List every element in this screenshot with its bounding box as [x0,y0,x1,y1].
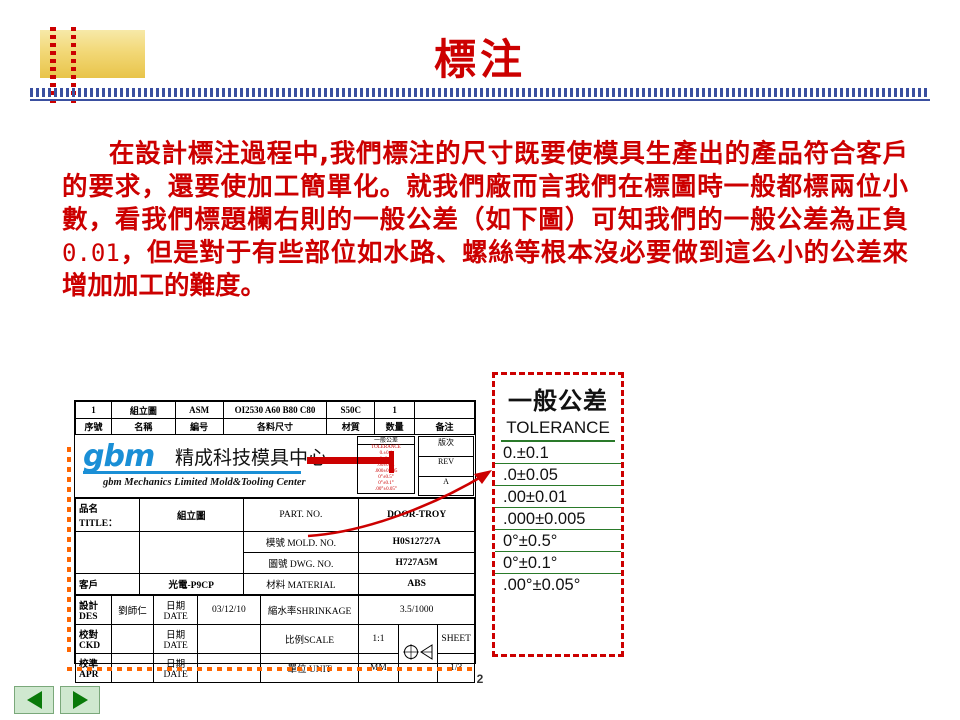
triangle-right-icon [73,691,88,709]
company-name-en: gbm Mechanics Limited Mold&Tooling Cente… [103,477,306,488]
cell-title-label: 品名 TITLE： [76,499,140,532]
cell-ckd-date-label: 日期DATE [154,625,197,654]
first-angle-projection-icon [402,642,434,662]
revision-label-cn: 版次 [418,436,474,456]
cell-hdr-qty: 数量 [375,419,415,435]
cell-ckd-label: 校對CKD [76,625,112,654]
cell-dwgno-label: 圖號 DWG. NO. [243,553,359,574]
paragraph-text-part2: ，但是對于有些部位如水路、螺絲等根本沒必要做到這么小的公差來增加加工的難度。 [62,238,908,301]
cell-item-material: S50C [327,402,375,419]
body-paragraph: 在設計標注過程中,我們標注的尺寸既要使模具生產出的產品符合客戶的要求，還要使加工… [62,138,908,303]
cell-blank-left [76,532,140,574]
cell-shrinkage-value: 3.5/1000 [359,596,475,625]
header-solid-rule [30,99,930,101]
cell-hdr-name: 名稱 [111,419,175,435]
table-row: 客戶 光電-P9CP 材料 MATERIAL ABS [76,574,475,595]
cell-des-label: 設計DES [76,596,112,625]
cell-item-size: OI2530 A60 B80 C80 [223,402,327,419]
cell-material-value: ABS [359,574,475,595]
drawing-header-table: 1 組立圖 ASM OI2530 A60 B80 C80 S50C 1 序號 名… [75,401,475,435]
cell-hdr-code: 編号 [175,419,223,435]
table-row: 序號 名稱 編号 各料尺寸 材質 数量 备注 [76,419,475,435]
cell-item-remark [415,402,475,419]
triangle-left-icon [27,691,42,709]
list-item: .000±0.005 [495,508,621,530]
next-slide-button[interactable] [60,686,100,714]
tolerance-callout-list: 0.±0.1 .0±0.05 .00±0.01 .000±0.005 0°±0.… [495,442,621,596]
cell-customer-label: 客戶 [76,574,140,595]
cell-item-no: 1 [76,402,112,419]
cell-des-date-value: 03/12/10 [197,596,260,625]
header-dotted-rule [30,88,930,97]
prev-slide-button[interactable] [14,686,54,714]
table-row: 設計DES 劉師仁 日期DATE 03/12/10 縮水率SHRINKAGE 3… [76,596,475,625]
list-item: .00±0.01 [495,486,621,508]
cell-hdr-size: 各料尺寸 [223,419,327,435]
list-item: 0°±0.5° [495,530,621,552]
callout-arrow [300,462,510,542]
cell-des-value: 劉師仁 [111,596,154,625]
cell-dwgno-value: H727A5M [359,553,475,574]
paragraph-text-part1: 在設計標注過程中,我們標注的尺寸既要使模具生產出的產品符合客戶的要求，還要使加工… [62,139,908,235]
company-logo-text: gbm [83,439,154,474]
list-item: .0±0.05 [495,464,621,486]
slide-navigation[interactable] [14,686,100,714]
tolerance-callout-subtitle: TOLERANCE [501,418,615,442]
list-item: 0°±0.1° [495,552,621,574]
cell-hdr-material: 材質 [327,419,375,435]
cell-scale-value: 1:1 [359,625,398,654]
cell-ckd-date-value [197,625,260,654]
paragraph-tolerance-value: 0.01 [62,239,120,267]
cell-hdr-remark: 备注 [415,419,475,435]
table-row: 1 組立圖 ASM OI2530 A60 B80 C80 S50C 1 [76,402,475,419]
cell-hdr-no: 序號 [76,419,112,435]
cell-item-qty: 1 [375,402,415,419]
tolerance-callout-title: 一般公差 [495,381,621,416]
cell-customer-value: 光電-P9CP [139,574,243,595]
list-item: .00°±0.05° [495,574,621,596]
cell-material-label: 材料 MATERIAL [243,574,359,595]
cell-des-date-label: 日期DATE [154,596,197,625]
tolerance-callout: 一般公差 TOLERANCE 0.±0.1 .0±0.05 .00±0.01 .… [492,372,624,657]
cell-item-code: ASM [175,402,223,419]
cell-title-value: 組立圖 [139,499,243,532]
table-row: 校對CKD 日期DATE 比例SCALE 1:1 SHEET [76,625,475,654]
cell-sheet-label: SHEET [438,625,475,654]
drawing-dashed-marker-left [67,447,71,655]
cell-scale-label: 比例SCALE [260,625,358,654]
tolerance-box-title: 一般公差 [358,438,414,445]
logo-underline [83,471,301,474]
drawing-dashed-marker-bottom [67,667,475,671]
cell-blank-left2 [139,532,243,574]
page-title: 標注 [0,26,960,87]
cell-ckd-value [111,625,154,654]
list-item: 0.±0.1 [495,442,621,464]
cell-item-name: 組立圖 [111,402,175,419]
page-number: 2 [0,672,960,686]
cell-shrinkage-label: 縮水率SHRINKAGE [260,596,358,625]
